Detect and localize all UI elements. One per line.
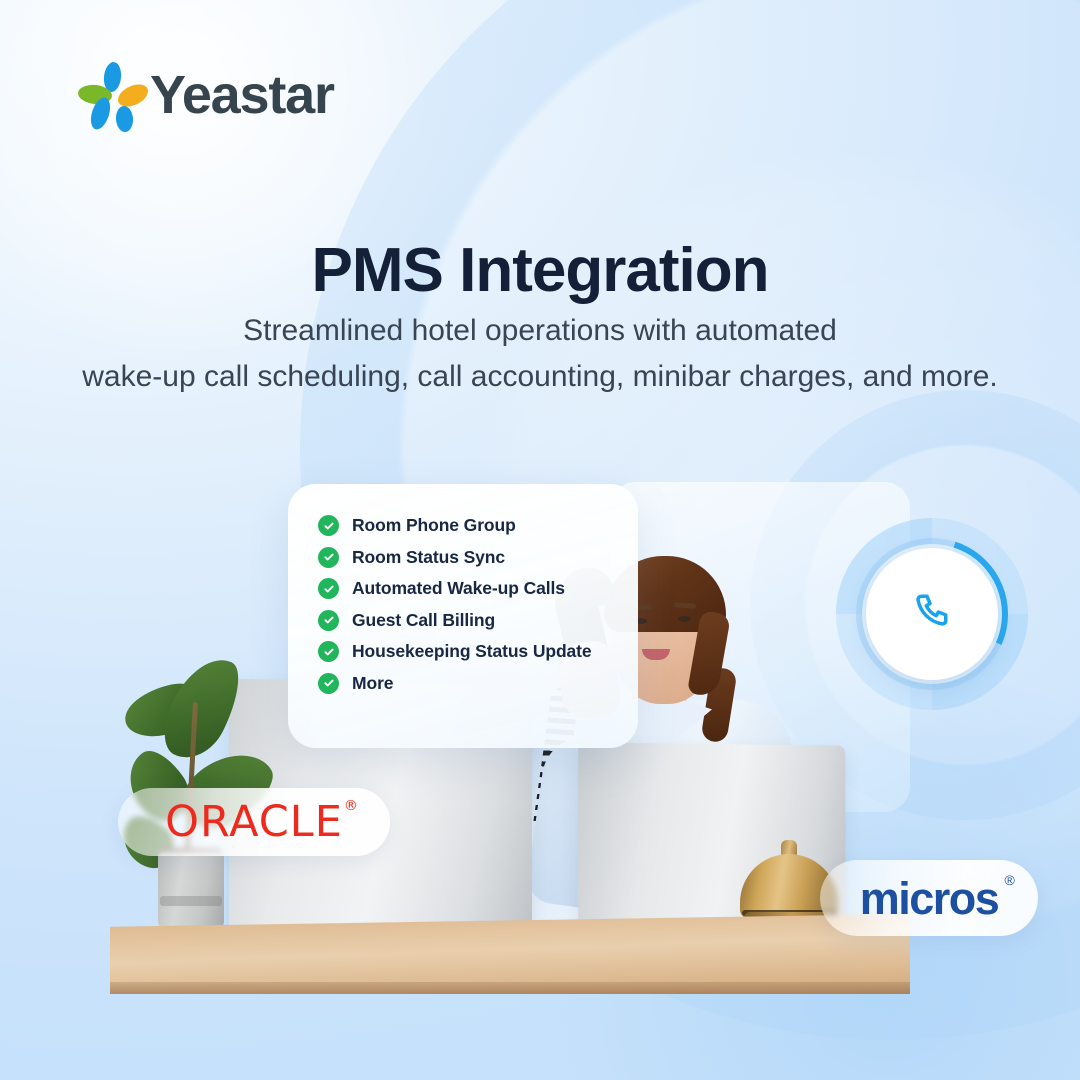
- poster-canvas: Yeastar PMS Integration Streamlined hote…: [0, 0, 1080, 1080]
- eye-right: [678, 616, 691, 622]
- list-item-label: Guest Call Billing: [352, 610, 495, 631]
- oracle-text: ORACLE: [165, 797, 343, 847]
- yeastar-logo[interactable]: Yeastar: [78, 62, 334, 128]
- list-item-label: Housekeeping Status Update: [352, 641, 592, 662]
- subtitle-line-1: Streamlined hotel operations with automa…: [0, 308, 1080, 354]
- list-item: Housekeeping Status Update: [318, 636, 638, 668]
- badge-core: [866, 548, 998, 680]
- partner-logo-micros[interactable]: micros®: [820, 860, 1038, 936]
- potted-plant: [118, 630, 268, 930]
- logo-wordmark: Yeastar: [150, 68, 334, 122]
- page-subtitle: Streamlined hotel operations with automa…: [0, 308, 1080, 400]
- list-item: Room Phone Group: [318, 510, 638, 542]
- check-circle-icon: [318, 673, 339, 694]
- check-circle-icon: [318, 578, 339, 599]
- page-title: PMS Integration: [0, 238, 1080, 305]
- desk-edge: [110, 982, 910, 994]
- micros-text: micros: [860, 873, 999, 924]
- list-item-label: Room Phone Group: [352, 515, 516, 536]
- registered-trademark-icon: ®: [344, 799, 359, 813]
- check-circle-icon: [318, 547, 339, 568]
- list-item-label: Room Status Sync: [352, 547, 505, 568]
- subtitle-line-2: wake-up call scheduling, call accounting…: [0, 354, 1080, 400]
- petal-bottom-right-icon: [115, 105, 134, 132]
- check-circle-icon: [318, 610, 339, 631]
- yeastar-pinwheel-icon: [78, 62, 136, 128]
- list-item: Guest Call Billing: [318, 605, 638, 637]
- list-item: More: [318, 668, 638, 700]
- check-circle-icon: [318, 515, 339, 536]
- phone-badge: [836, 518, 1028, 710]
- check-circle-icon: [318, 641, 339, 662]
- feature-list-card: Room Phone Group Room Status Sync Automa…: [288, 484, 638, 748]
- list-item: Automated Wake-up Calls: [318, 573, 638, 605]
- list-item-label: More: [352, 673, 393, 694]
- partner-logo-oracle[interactable]: ORACLE®: [118, 788, 390, 856]
- oracle-wordmark: ORACLE®: [165, 801, 343, 844]
- plant-pot: [158, 852, 224, 930]
- micros-wordmark: micros®: [860, 876, 999, 921]
- list-item: Room Status Sync: [318, 542, 638, 574]
- registered-trademark-icon: ®: [1004, 873, 1013, 887]
- phone-handset-icon: [910, 590, 954, 639]
- list-item-label: Automated Wake-up Calls: [352, 578, 565, 599]
